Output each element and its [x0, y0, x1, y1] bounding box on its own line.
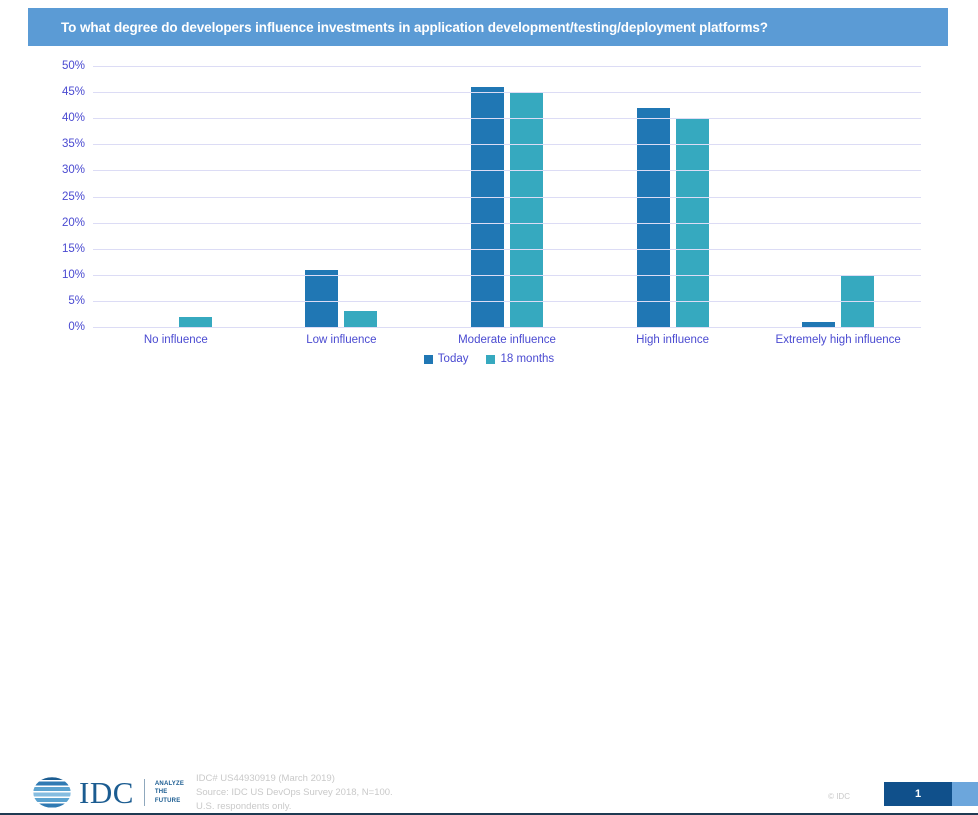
y-axis-tick-label: 20%: [25, 217, 85, 229]
chart-legend: Today18 months: [0, 353, 978, 365]
bar-18-months-low-influence: [344, 311, 377, 327]
legend-item[interactable]: Today: [424, 353, 469, 365]
y-axis-tick-label: 40%: [25, 112, 85, 124]
legend-swatch-icon: [424, 355, 433, 364]
gridline: [93, 275, 921, 276]
source-line-3: U.S. respondents only.: [196, 800, 393, 814]
gridline: [93, 249, 921, 250]
gridline: [93, 197, 921, 198]
bar-18-months-no-influence: [179, 317, 212, 327]
logo-tagline-line2: THE: [155, 788, 184, 796]
y-axis-tick-label: 35%: [25, 138, 85, 150]
y-axis-tick-label: 25%: [25, 191, 85, 203]
x-axis-tick-label: High influence: [636, 334, 709, 346]
x-axis-tick-label: Moderate influence: [458, 334, 556, 346]
plot-area: [93, 66, 921, 327]
page-accent-block: [952, 782, 978, 806]
logo-tagline-line1: ANALYZE: [155, 780, 184, 788]
legend-label: 18 months: [500, 353, 554, 365]
logo-divider: [144, 779, 145, 806]
bar-18-months-moderate-influence: [510, 92, 543, 327]
slide-footer: IDC ANALYZE THE FUTURE IDC# US44930919 (…: [0, 384, 978, 434]
y-axis-tick-label: 15%: [25, 243, 85, 255]
gridline: [93, 144, 921, 145]
page-number: 1: [884, 782, 952, 806]
y-axis-labels: 50%45%40%35%30%25%20%15%10%5%0%: [23, 66, 85, 327]
gridline: [93, 327, 921, 328]
y-axis-tick-label: 0%: [25, 321, 85, 333]
gridline: [93, 118, 921, 119]
x-axis-tick-label: Low influence: [306, 334, 376, 346]
globe-icon: [32, 774, 72, 811]
y-axis-tick-label: 10%: [25, 269, 85, 281]
y-axis-tick-label: 30%: [25, 164, 85, 176]
y-axis-tick-label: 5%: [25, 295, 85, 307]
bar-today-high-influence: [637, 108, 670, 327]
x-axis-tick-label: No influence: [144, 334, 208, 346]
source-note: IDC# US44930919 (March 2019) Source: IDC…: [196, 772, 393, 813]
copyright-text: © IDC: [828, 792, 850, 801]
legend-item[interactable]: 18 months: [486, 353, 554, 365]
logo-tagline-line3: FUTURE: [155, 797, 184, 805]
idc-logo: IDC ANALYZE THE FUTURE: [32, 774, 184, 811]
logo-tagline: ANALYZE THE FUTURE: [155, 780, 184, 804]
bar-today-low-influence: [305, 270, 338, 327]
gridline: [93, 66, 921, 67]
bar-today-moderate-influence: [471, 87, 504, 327]
y-axis-tick-label: 50%: [25, 60, 85, 72]
y-axis-tick-label: 45%: [25, 86, 85, 98]
chart-title-band: To what degree do developers influence i…: [28, 8, 948, 46]
page-title: To what degree do developers influence i…: [61, 20, 768, 35]
gridline: [93, 301, 921, 302]
source-line-1: IDC# US44930919 (March 2019): [196, 772, 393, 786]
legend-swatch-icon: [486, 355, 495, 364]
chart-container: 50%45%40%35%30%25%20%15%10%5%0% No influ…: [0, 52, 978, 372]
legend-label: Today: [438, 353, 469, 365]
x-axis-labels: No influenceLow influenceModerate influe…: [93, 334, 921, 354]
x-axis-tick-label: Extremely high influence: [776, 334, 901, 346]
gridline: [93, 92, 921, 93]
logo-wordmark: IDC: [79, 777, 134, 808]
gridline: [93, 170, 921, 171]
gridline: [93, 223, 921, 224]
source-line-2: Source: IDC US DevOps Survey 2018, N=100…: [196, 786, 393, 800]
